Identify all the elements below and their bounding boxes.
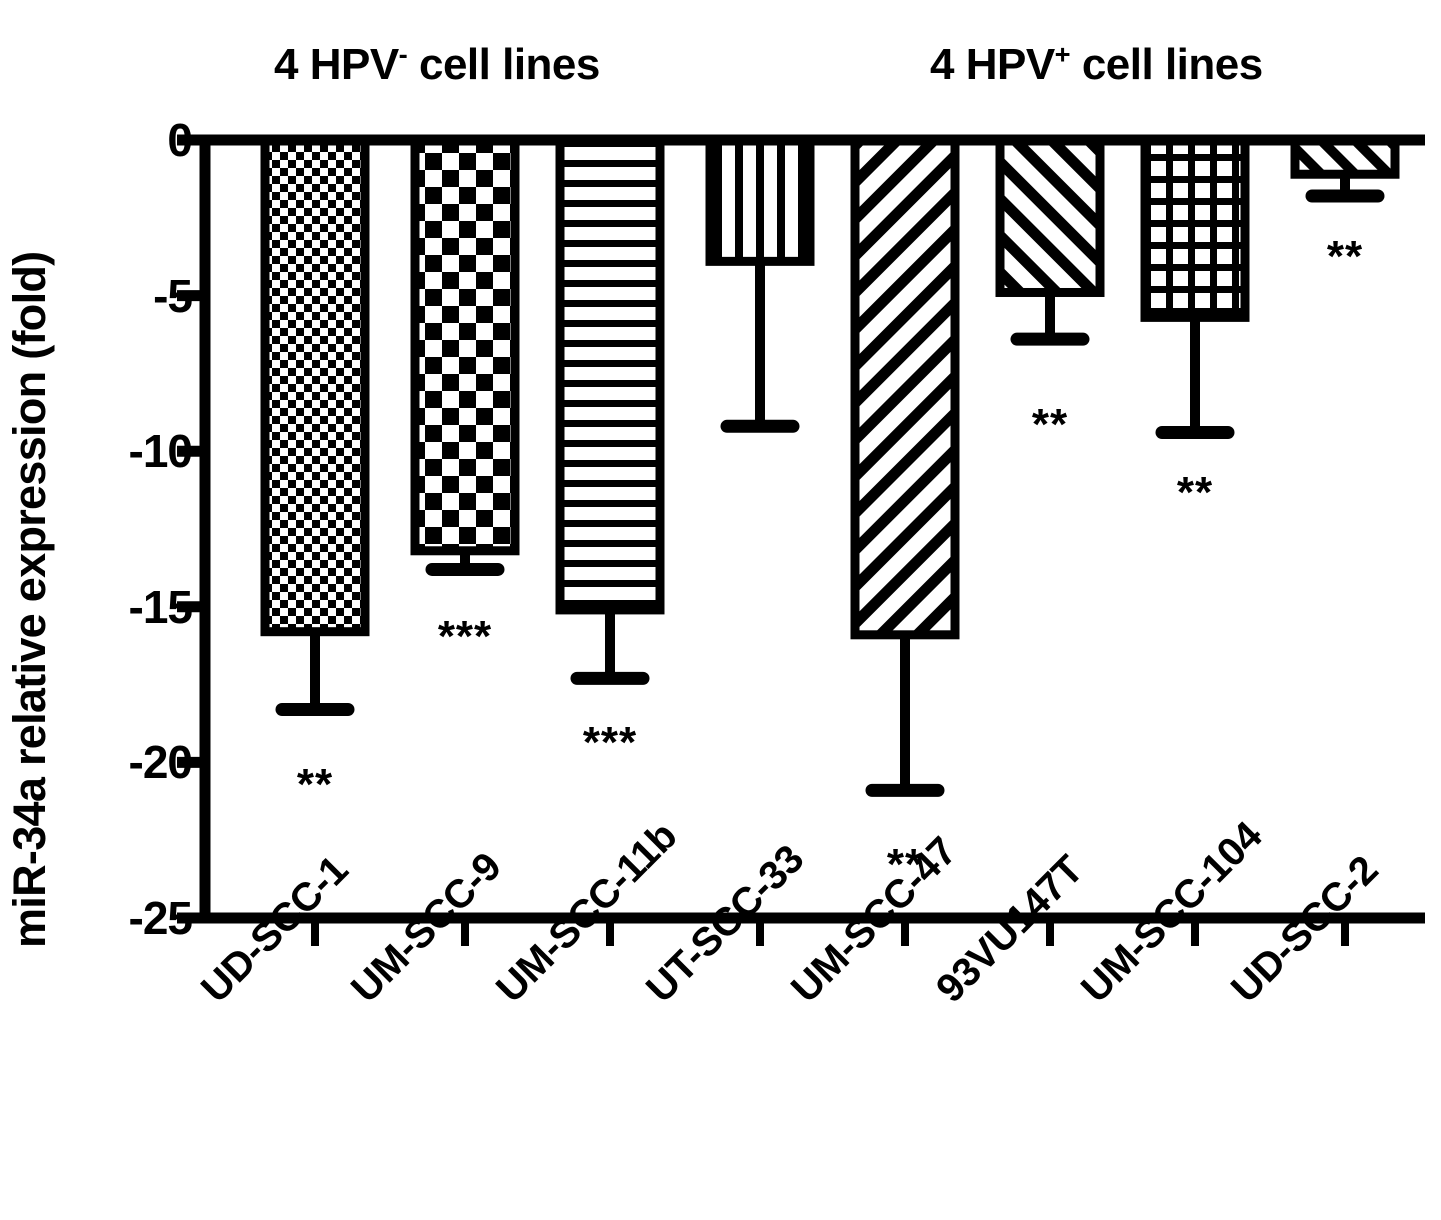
bar-um-scc-11b [560, 140, 660, 610]
significance-marker-um-scc-104: ** [1177, 468, 1213, 518]
bar-93vu147t [1000, 140, 1100, 292]
significance-marker-um-scc-9: *** [438, 612, 492, 662]
bar-um-scc-9 [415, 140, 515, 551]
bar-ud-scc-1 [265, 140, 365, 632]
chart-canvas [0, 0, 1441, 1220]
significance-marker-93vu147t: ** [1032, 400, 1068, 450]
figure-root: 4 HPV- cell lines 4 HPV+ cell lines miR-… [0, 0, 1441, 1220]
significance-marker-um-scc-47: ** [887, 840, 923, 890]
bar-ut-scc-33 [710, 140, 810, 261]
bar-um-scc-47 [855, 140, 955, 635]
significance-marker-um-scc-11b: *** [583, 718, 637, 768]
significance-marker-ud-scc-1: ** [297, 760, 333, 810]
bars-layer [265, 140, 1395, 790]
bar-um-scc-104 [1145, 140, 1245, 317]
significance-marker-ud-scc-2: ** [1327, 232, 1363, 282]
